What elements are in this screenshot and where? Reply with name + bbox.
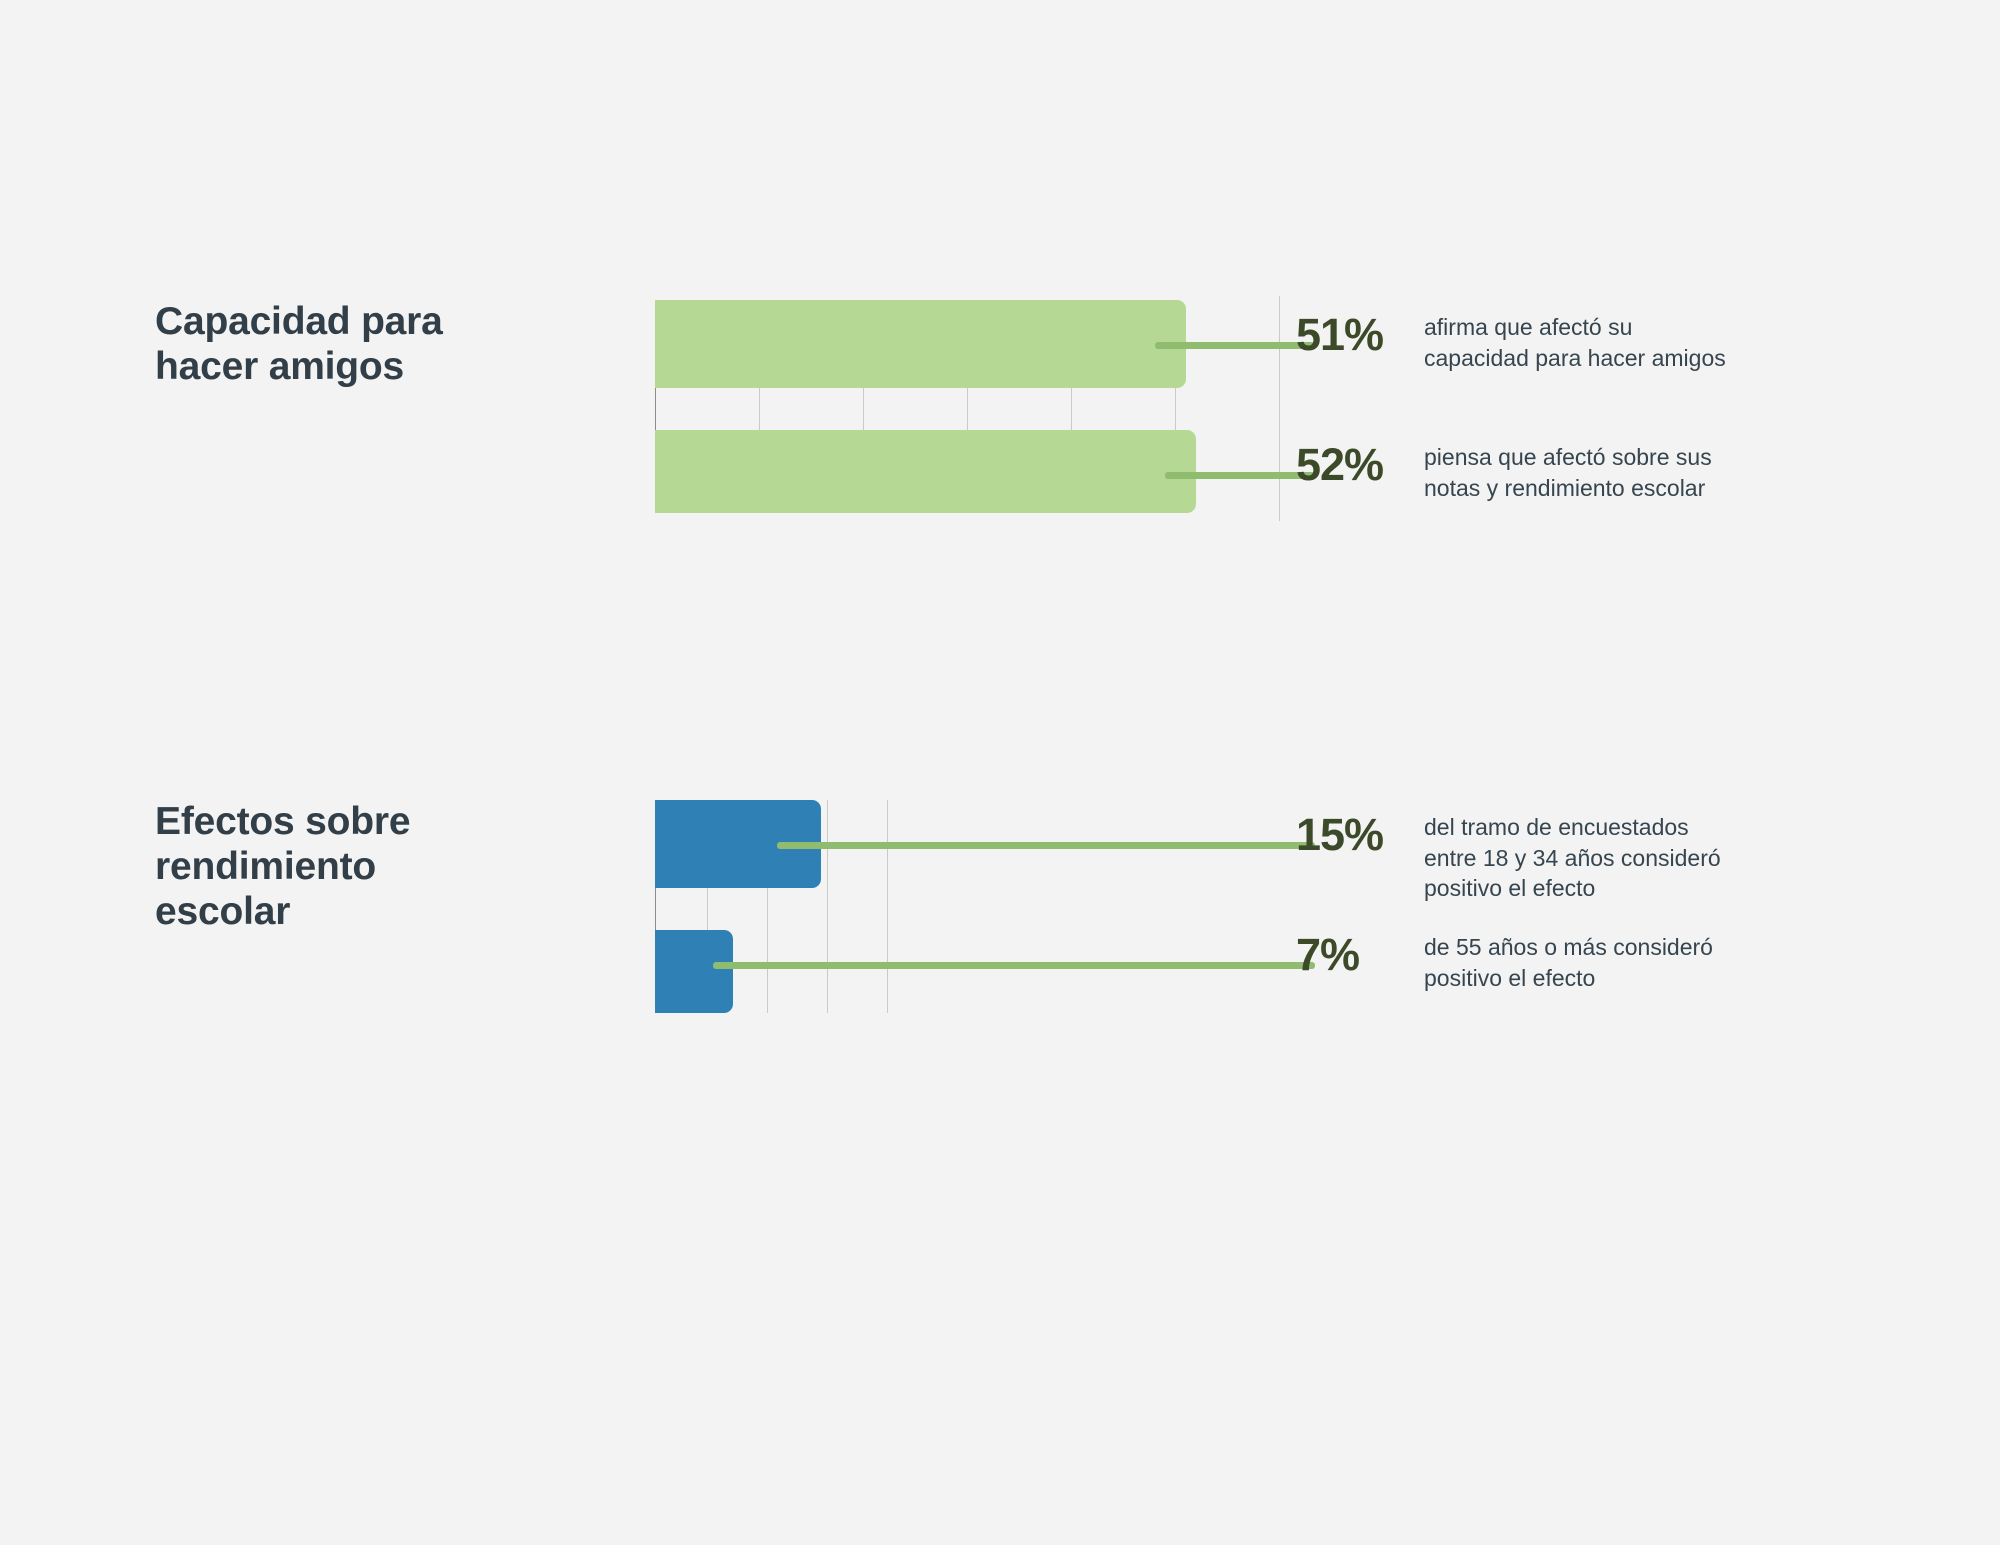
bar-friends-51 [655, 300, 1186, 388]
callout-text-7: de 55 años o más consideró positivo el e… [1424, 932, 1824, 993]
callout-text-7-line2: positivo el efecto [1424, 965, 1595, 991]
callout-7: 7% de 55 años o más consideró positivo e… [1296, 932, 1824, 993]
bar-chart-friends [655, 300, 1285, 513]
section-title-friends-line2: hacer amigos [155, 345, 404, 388]
section-title-school-line1: Efectos sobre [155, 800, 410, 843]
gridline-school-4 [887, 800, 888, 1013]
callout-text-51-line2: capacidad para hacer amigos [1424, 345, 1726, 371]
leader-line-52 [1165, 472, 1315, 479]
callout-text-15-line1: del tramo de encuestados [1424, 814, 1689, 840]
section-capacidad-hacer-amigos: Capacidad para hacer amigos 51% afirma q… [0, 260, 2000, 560]
callout-text-7-line1: de 55 años o más consideró [1424, 934, 1713, 960]
section-title-friends-line1: Capacidad para [155, 300, 443, 343]
leader-line-15 [777, 842, 1315, 849]
section-title-school-line2: rendimiento [155, 845, 376, 888]
callout-percent-15: 15% [1296, 812, 1424, 857]
callout-text-52-line1: piensa que afectó sobre sus [1424, 444, 1712, 470]
callout-51: 51% afirma que afectó su capacidad para … [1296, 312, 1824, 373]
callout-text-15: del tramo de encuestados entre 18 y 34 a… [1424, 812, 1824, 904]
leader-line-7 [713, 962, 1315, 969]
callout-percent-52: 52% [1296, 442, 1424, 487]
callout-text-15-line3: positivo el efecto [1424, 875, 1595, 901]
leader-line-51 [1155, 342, 1315, 349]
gridline-school-3 [827, 800, 828, 1013]
right-axis-friends [1279, 296, 1280, 521]
section-title-friends: Capacidad para hacer amigos [155, 299, 555, 389]
section-efectos-rendimiento-escolar: Efectos sobre rendimiento escolar 15% de… [0, 760, 2000, 1060]
bar-chart-school [655, 800, 1285, 1013]
infographic-root: Capacidad para hacer amigos 51% afirma q… [0, 0, 2000, 1545]
section-title-school: Efectos sobre rendimiento escolar [155, 799, 555, 935]
callout-text-51-line1: afirma que afectó su [1424, 314, 1632, 340]
callout-text-52: piensa que afectó sobre sus notas y rend… [1424, 442, 1824, 503]
callout-percent-51: 51% [1296, 312, 1424, 357]
callout-text-51: afirma que afectó su capacidad para hace… [1424, 312, 1824, 373]
section-title-school-line3: escolar [155, 890, 290, 933]
callout-15: 15% del tramo de encuestados entre 18 y … [1296, 812, 1824, 904]
callout-52: 52% piensa que afectó sobre sus notas y … [1296, 442, 1824, 503]
callout-percent-7: 7% [1296, 932, 1424, 977]
bar-friends-52 [655, 430, 1196, 513]
bar-school-7 [655, 930, 733, 1013]
callout-text-15-line2: entre 18 y 34 años consideró [1424, 845, 1721, 871]
callout-text-52-line2: notas y rendimiento escolar [1424, 475, 1705, 501]
